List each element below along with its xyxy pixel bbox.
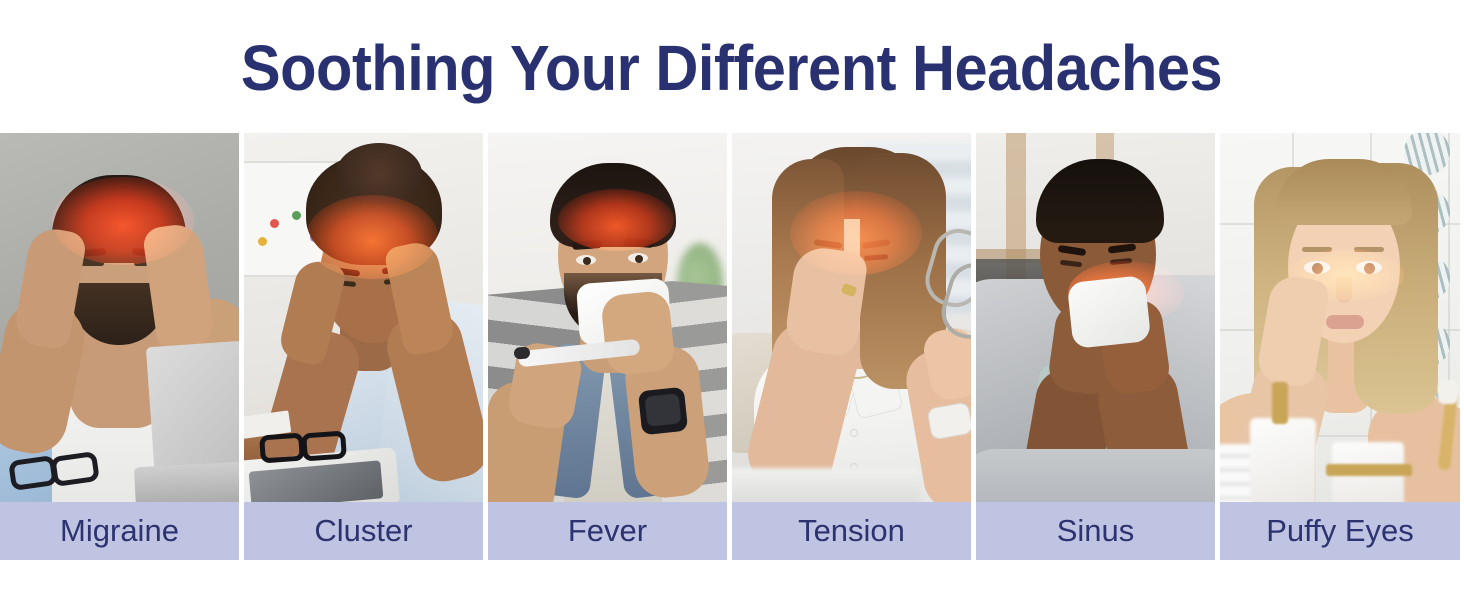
photo-migraine bbox=[0, 133, 239, 502]
grey-blanket-bottom bbox=[976, 449, 1215, 502]
panel-label-cluster: Cluster bbox=[314, 513, 412, 549]
panel-migraine[interactable]: Migraine bbox=[0, 133, 239, 560]
laptop-foreground bbox=[732, 468, 920, 502]
panel-label-fever: Fever bbox=[568, 513, 647, 549]
photo-cluster bbox=[244, 133, 483, 502]
hand-holding-tissue bbox=[600, 290, 676, 377]
photo-sinus bbox=[976, 133, 1215, 502]
nose bbox=[1336, 277, 1352, 303]
photo-tension bbox=[732, 133, 971, 502]
panel-label-puffy-eyes: Puffy Eyes bbox=[1266, 513, 1414, 549]
blouse-button-1 bbox=[850, 429, 858, 437]
title-container: Soothing Your Different Headaches bbox=[0, 22, 1464, 114]
sticky-note-yellow bbox=[258, 237, 267, 246]
photo-fever bbox=[488, 133, 727, 502]
panel-cluster[interactable]: Cluster bbox=[244, 133, 483, 560]
hair-bun bbox=[336, 143, 422, 205]
sticky-note-green bbox=[292, 211, 301, 220]
dispenser-pump bbox=[1272, 382, 1288, 424]
tissue bbox=[1067, 275, 1151, 349]
toothbrush-head bbox=[1438, 380, 1458, 404]
eyeglasses-lens-right bbox=[301, 430, 347, 461]
label-bar-migraine: Migraine bbox=[0, 502, 239, 560]
panel-label-migraine: Migraine bbox=[60, 513, 179, 549]
sticky-note-red bbox=[270, 219, 279, 228]
smartwatch-face bbox=[645, 393, 682, 426]
panel-tension[interactable]: Tension bbox=[732, 133, 971, 560]
panel-sinus[interactable]: Sinus bbox=[976, 133, 1215, 560]
laptop-base bbox=[134, 461, 239, 502]
eye-left bbox=[80, 261, 104, 266]
label-bar-sinus: Sinus bbox=[976, 502, 1215, 560]
panel-fever[interactable]: Fever bbox=[488, 133, 727, 560]
page-title: Soothing Your Different Headaches bbox=[241, 36, 1222, 100]
eyebrow-right bbox=[1354, 247, 1384, 252]
photo-puffy-eyes bbox=[1220, 133, 1460, 502]
label-bar-fever: Fever bbox=[488, 502, 727, 560]
label-bar-puffy-eyes: Puffy Eyes bbox=[1220, 502, 1460, 560]
soap-dispenser bbox=[1250, 418, 1316, 502]
pupil-left bbox=[1312, 263, 1323, 274]
headache-types-banner: Soothing Your Different Headaches bbox=[0, 0, 1464, 600]
label-bar-tension: Tension bbox=[732, 502, 971, 560]
gold-trim bbox=[1326, 464, 1412, 476]
eyeglasses-lens-left bbox=[259, 432, 305, 463]
eyebrow-left bbox=[1302, 247, 1332, 252]
panel-puffy-eyes[interactable]: Puffy Eyes bbox=[1220, 133, 1460, 560]
panel-label-tension: Tension bbox=[798, 513, 905, 549]
lips bbox=[1326, 315, 1364, 329]
pupil-right bbox=[1364, 263, 1375, 274]
pupil-right bbox=[635, 255, 643, 263]
pupil-left bbox=[583, 257, 591, 265]
wristwatch bbox=[927, 402, 971, 441]
panel-label-sinus: Sinus bbox=[1057, 513, 1135, 549]
label-bar-cluster: Cluster bbox=[244, 502, 483, 560]
headache-panel-strip: Migraine bbox=[0, 133, 1464, 560]
